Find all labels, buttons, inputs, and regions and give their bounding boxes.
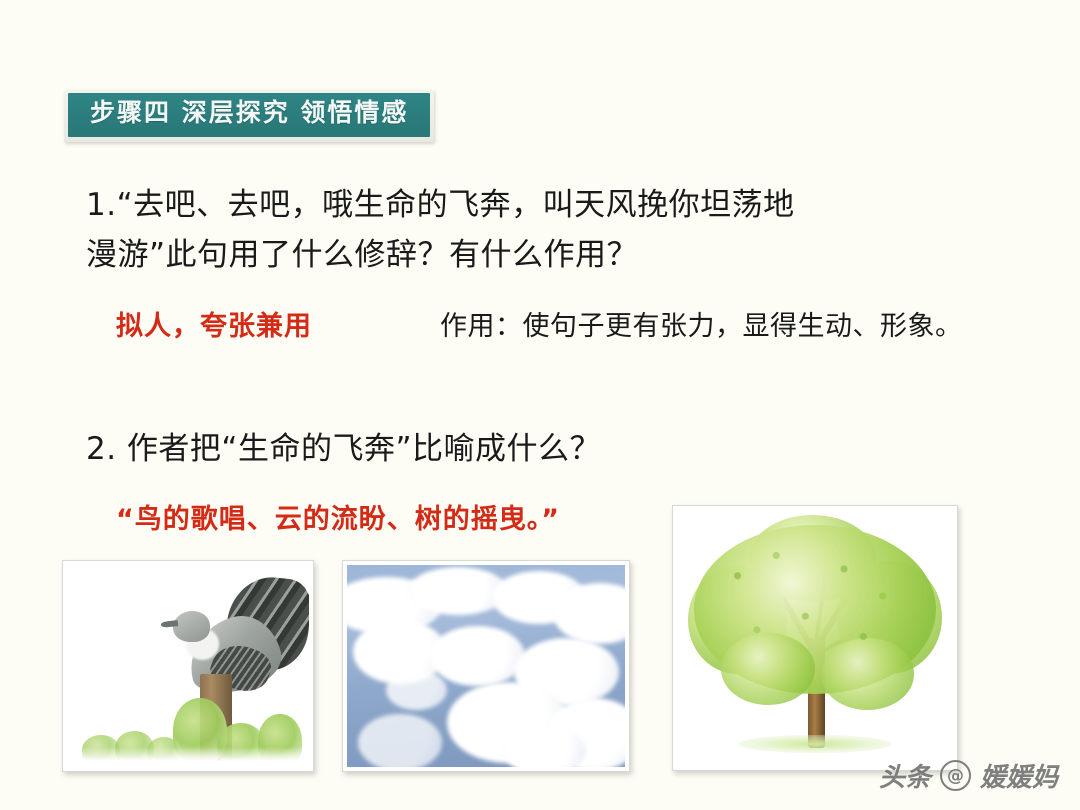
section-banner: 步骤四 深层探究 领悟情感 xyxy=(64,90,434,142)
question-1-text: 1.“去吧、去吧，哦生命的飞奔，叫天风挽你坦荡地 漫游”此句用了什么修辞？有什么… xyxy=(86,180,966,280)
watermark-brand: 头条 xyxy=(879,757,931,794)
bird-photo xyxy=(62,560,314,772)
section-banner-fill: 步骤四 深层探究 领悟情感 xyxy=(68,93,430,137)
bird-head xyxy=(173,611,209,641)
question-1-answer-row: 拟人，夸张兼用 作用：使句子更有张力，显得生动、形象。 xyxy=(86,304,1026,348)
section-banner-label: 步骤四 深层探究 领悟情感 xyxy=(90,99,408,128)
question-1-answer-explanation: 作用：使句子更有张力，显得生动、形象。 xyxy=(440,304,963,343)
question-1-answer-highlight: 拟人，夸张兼用 xyxy=(116,304,312,343)
watermark: 头条 @ 媛媛妈 xyxy=(879,757,1058,794)
cloud-puff xyxy=(386,670,447,710)
question-1-line-2: 漫游”此句用了什么修辞？有什么作用？ xyxy=(86,230,966,280)
watermark-handle: 媛媛妈 xyxy=(980,757,1058,794)
bird-photo-scene xyxy=(67,565,309,767)
cloud-puff xyxy=(358,714,441,767)
clouds-photo xyxy=(342,560,630,772)
tree-photo xyxy=(672,505,958,771)
at-sign-icon: @ xyxy=(940,760,971,791)
slide-canvas: 步骤四 深层探究 领悟情感 1.“去吧、去吧，哦生命的飞奔，叫天风挽你坦荡地 漫… xyxy=(0,0,1080,810)
question-1-line-1: 1.“去吧、去吧，哦生命的飞奔，叫天风挽你坦荡地 xyxy=(86,187,795,223)
cloud-puff xyxy=(430,626,525,687)
question-2-answer-highlight: “鸟的歌唱、云的流盼、树的摇曳。” xyxy=(116,497,560,536)
tree-leaf-texture xyxy=(694,525,937,694)
clouds-photo-scene xyxy=(347,565,625,767)
question-2-text: 2. 作者把“生命的飞奔”比喻成什么？ xyxy=(86,426,601,472)
ground-haze xyxy=(67,747,309,767)
tree-photo-scene xyxy=(677,510,953,766)
tree-ground-shadow xyxy=(738,735,893,753)
